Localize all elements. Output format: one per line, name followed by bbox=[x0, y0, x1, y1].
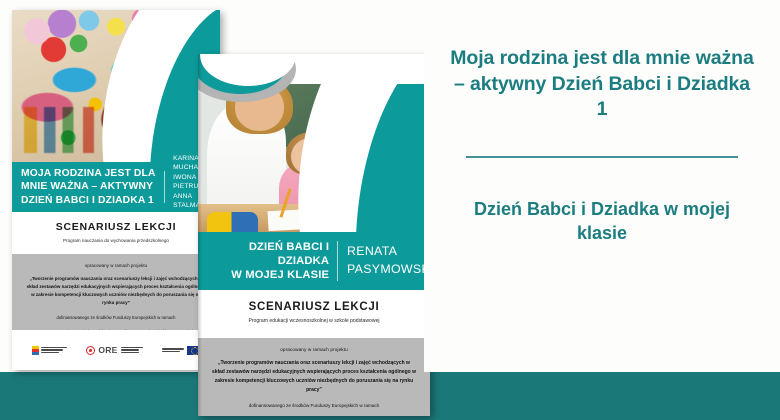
ore-ring-icon bbox=[86, 346, 95, 355]
project-intro: opracowany w ramach projektu bbox=[22, 263, 210, 268]
author-last-name: PASYMOWSKA bbox=[347, 261, 423, 279]
cover-title-text: MOJA RODZINA JEST DLA MNIE WAŻNA – AKTYW… bbox=[12, 162, 164, 212]
cover-title-line-1: DZIEŃ BABCI I DZIADKA bbox=[207, 240, 329, 269]
book-cover-front[interactable]: DZIEŃ BABCI I DZIADKA W MOJEJ KLASIE REN… bbox=[198, 54, 430, 416]
cover-scenario-band: SCENARIUSZ LEKCJI Program edukacji wczes… bbox=[198, 290, 430, 338]
project-quote: „Tworzenie programów nauczania oraz scen… bbox=[208, 359, 420, 395]
text-panel: Moja rodzina jest dla mnie ważna – aktyw… bbox=[424, 0, 780, 372]
cover-project-block: opracowany w ramach projektu „Tworzenie … bbox=[12, 254, 220, 330]
funding-line-1: dofinansowanego ze środków Funduszy Euro… bbox=[22, 314, 210, 321]
cover-title-text: DZIEŃ BABCI I DZIADKA W MOJEJ KLASIE bbox=[198, 232, 337, 290]
scenario-subtitle: Program nauczania do wychowania przedszk… bbox=[12, 238, 220, 243]
page-title: Moja rodzina jest dla mnie ważna – aktyw… bbox=[446, 46, 758, 123]
project-intro: opracowany w ramach projektu bbox=[208, 347, 420, 352]
unia-europejska-logo bbox=[162, 346, 200, 355]
cover-authors: RENATA PASYMOWSKA bbox=[338, 232, 430, 290]
cover-title-bar: DZIEŃ BABCI I DZIADKA W MOJEJ KLASIE REN… bbox=[198, 232, 430, 290]
ore-logo-text: ORE bbox=[98, 345, 117, 355]
scenario-title: SCENARIUSZ LEKCJI bbox=[198, 301, 430, 313]
fundusze-europejskie-logo bbox=[32, 346, 67, 355]
cover-project-block: opracowany w ramach projektu „Tworzenie … bbox=[198, 338, 430, 416]
cover-title-bar: MOJA RODZINA JEST DLA MNIE WAŻNA – AKTYW… bbox=[12, 162, 220, 212]
ore-logo: ORE bbox=[86, 345, 142, 355]
fe-flag-icon bbox=[32, 346, 39, 355]
slide-canvas: MOJA RODZINA JEST DLA MNIE WAŻNA – AKTYW… bbox=[0, 0, 780, 420]
author-first-name: RENATA bbox=[347, 243, 423, 261]
scenario-subtitle: Program edukacji wczesnoszkolnej w szkol… bbox=[198, 318, 430, 324]
title-divider bbox=[466, 156, 738, 158]
project-quote: „Tworzenie programów nauczania oraz scen… bbox=[22, 275, 210, 307]
cover-scenario-band: SCENARIUSZ LEKCJI Program nauczania do w… bbox=[12, 212, 220, 254]
cover-photo-preschool bbox=[12, 10, 220, 162]
cover-title-line-2: W MOJEJ KLASIE bbox=[231, 268, 329, 282]
page-subtitle: Dzień Babci i Dziadka w mojej klasie bbox=[446, 198, 758, 246]
scenario-title: SCENARIUSZ LEKCJI bbox=[12, 221, 220, 233]
cover-photo-classroom bbox=[198, 54, 430, 232]
funding-line-1: dofinansowanego ze środków Funduszy Euro… bbox=[208, 402, 420, 410]
preschool-children-balloons-image bbox=[12, 10, 220, 162]
cover-logo-bar: ORE bbox=[12, 330, 220, 370]
book-cover-back[interactable]: MOJA RODZINA JEST DLA MNIE WAŻNA – AKTYW… bbox=[12, 10, 220, 370]
